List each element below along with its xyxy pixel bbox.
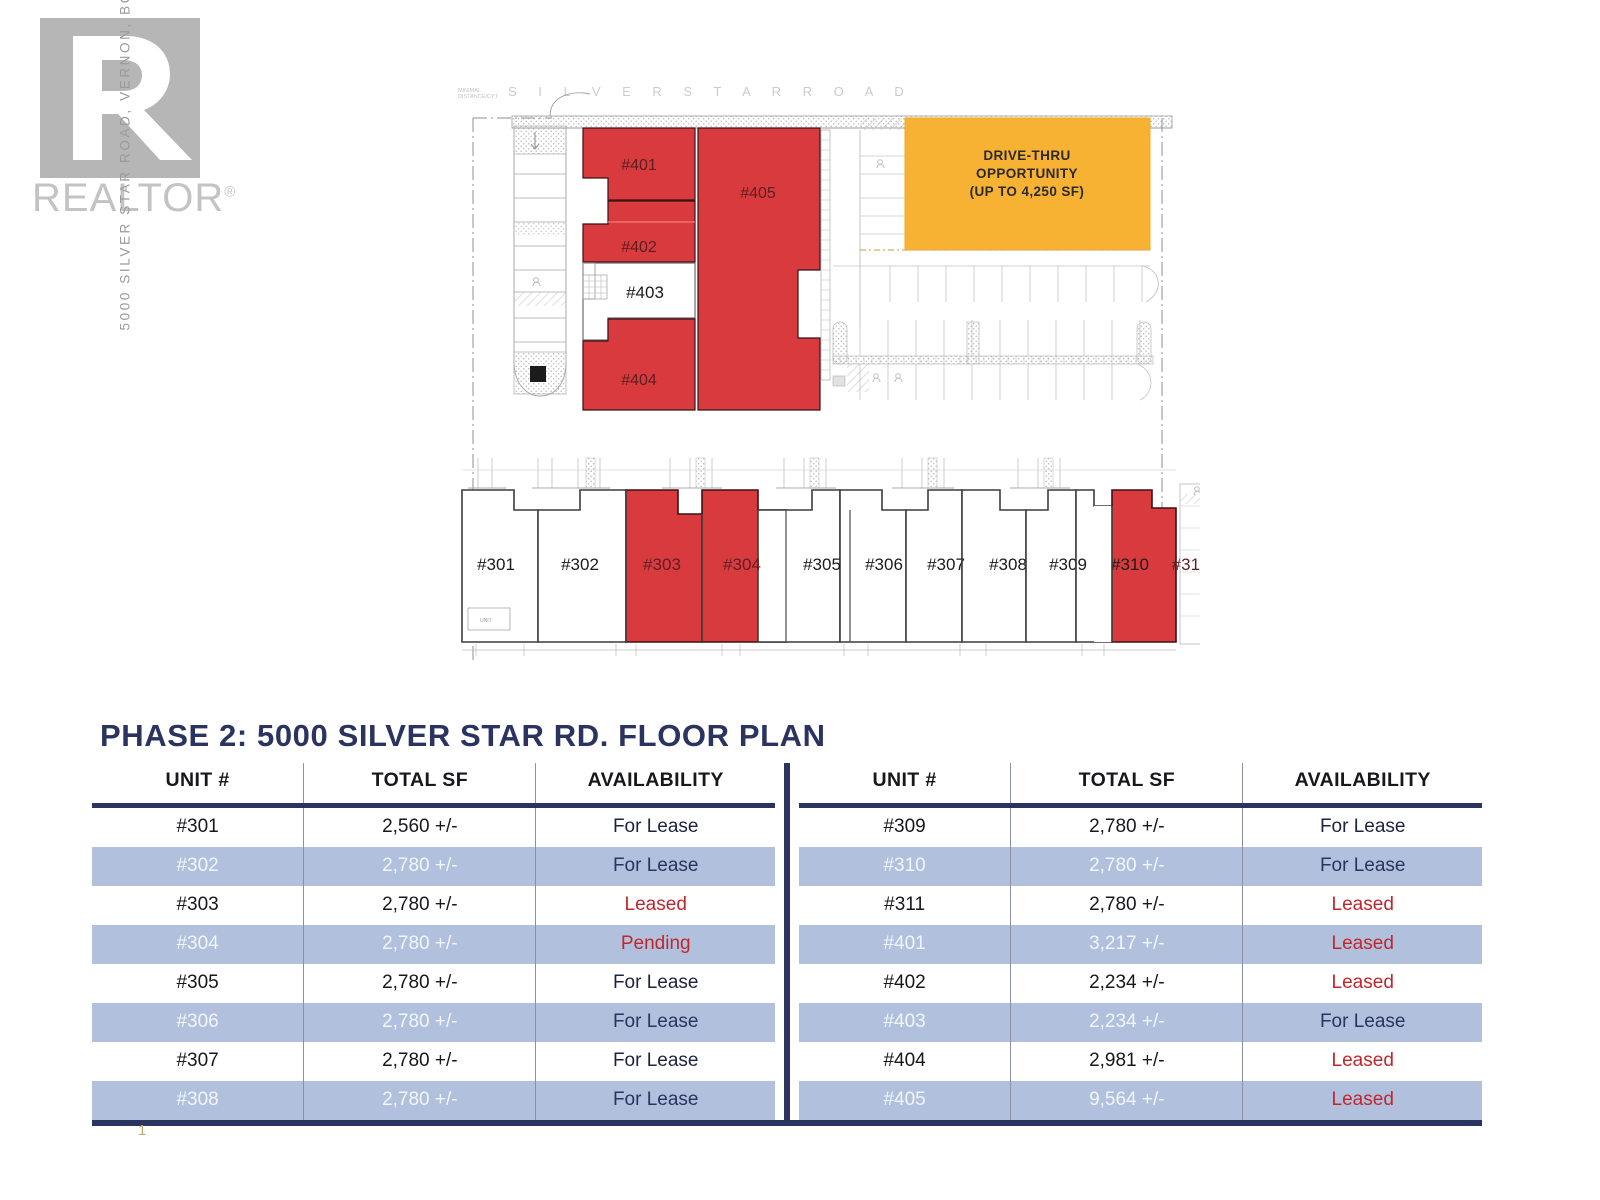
unit-302-label: #302	[561, 555, 599, 574]
cell-sf: 2,780 +/-	[1011, 847, 1243, 886]
drive-thru-line3: (UP TO 4,250 SF)	[970, 184, 1085, 199]
cell-unit: #302	[92, 847, 304, 886]
cell-availability: Leased	[1243, 964, 1482, 1003]
north-parking-row	[833, 250, 1158, 302]
center-parking-strip	[860, 118, 905, 328]
cell-availability: Leased	[1243, 886, 1482, 925]
cell-availability: Leased	[1243, 1042, 1482, 1081]
unit-tables: UNIT # TOTAL SF AVAILABILITY #301 2,560 …	[92, 763, 1482, 1120]
cell-sf: 2,234 +/-	[1011, 964, 1243, 1003]
realtor-wordmark-text: REALTOR	[32, 176, 224, 220]
cell-unit: #304	[92, 925, 304, 964]
floor-plan-drawing: S I L V E R S T A R R O A D MINIMAL DIST…	[440, 70, 1200, 670]
unit-401-label: #401	[621, 157, 657, 174]
table-row: #310 2,780 +/- For Lease	[799, 847, 1482, 886]
left-unit-table: UNIT # TOTAL SF AVAILABILITY #301 2,560 …	[92, 763, 775, 1120]
svg-text:S I L V E R S T A R R O A: S I L V E R S T A R R O A D	[508, 84, 913, 99]
cell-unit: #301	[92, 806, 304, 848]
cell-availability: Leased	[536, 886, 775, 925]
unit-305-label: #305	[803, 555, 841, 574]
left-table-body: #301 2,560 +/- For Lease #302 2,780 +/- …	[92, 806, 775, 1121]
cell-sf: 2,780 +/-	[304, 964, 536, 1003]
page-number: 1	[138, 1122, 146, 1139]
east-sidewalk	[821, 130, 830, 380]
unit-401-shape[interactable]: #401	[583, 128, 695, 200]
cell-availability: For Lease	[536, 847, 775, 886]
realtor-r-icon	[40, 18, 200, 178]
street-label-group: S I L V E R S T A R R O A D	[508, 84, 913, 99]
cell-availability: For Lease	[1243, 1003, 1482, 1042]
unit-402-shape[interactable]: #402	[583, 201, 695, 262]
svg-text:UNIT: UNIT	[480, 618, 492, 624]
unit-403-label: #403	[626, 283, 664, 302]
cell-sf: 2,780 +/-	[1011, 886, 1243, 925]
cell-sf: 2,780 +/-	[1011, 806, 1243, 848]
table-row: #301 2,560 +/- For Lease	[92, 806, 775, 848]
table-row: #404 2,981 +/- Leased	[799, 1042, 1482, 1081]
cell-availability: For Lease	[536, 964, 775, 1003]
cell-availability: Leased	[1243, 1081, 1482, 1120]
cell-unit: #308	[92, 1081, 304, 1120]
table-row: #308 2,780 +/- For Lease	[92, 1081, 775, 1120]
cell-sf: 2,234 +/-	[1011, 1003, 1243, 1042]
unit-310-label: #310	[1111, 555, 1149, 574]
cell-sf: 2,780 +/-	[304, 1042, 536, 1081]
cell-sf: 2,780 +/-	[304, 1081, 536, 1120]
unit-405-label: #405	[740, 185, 776, 202]
document-page: REALTOR® 5000 SILVER STAR ROAD, VERNON, …	[0, 0, 1600, 1200]
table-row: #403 2,234 +/- For Lease	[799, 1003, 1482, 1042]
cell-unit: #311	[799, 886, 1011, 925]
table-row: #304 2,780 +/- Pending	[92, 925, 775, 964]
cell-unit: #403	[799, 1003, 1011, 1042]
cell-availability: For Lease	[536, 806, 775, 848]
cell-availability: For Lease	[1243, 847, 1482, 886]
unit-402-label: #402	[621, 239, 657, 256]
cell-sf: 2,780 +/-	[304, 1003, 536, 1042]
cell-unit: #309	[799, 806, 1011, 848]
table-row: #302 2,780 +/- For Lease	[92, 847, 775, 886]
cell-availability: For Lease	[1243, 806, 1482, 848]
realtor-logo-box	[40, 18, 200, 178]
table-row: #401 3,217 +/- Leased	[799, 925, 1482, 964]
header-unit: UNIT #	[799, 763, 1011, 806]
cell-unit: #404	[799, 1042, 1011, 1081]
unit-304-label: #304	[723, 555, 761, 574]
cell-unit: #310	[799, 847, 1011, 886]
cell-availability: Leased	[1243, 925, 1482, 964]
table-header-row: UNIT # TOTAL SF AVAILABILITY	[92, 763, 775, 806]
drive-thru-line2: OPPORTUNITY	[976, 166, 1078, 181]
setback-note: MINIMAL DISTANCE/CYT	[458, 88, 499, 100]
unit-301-label: #301	[477, 555, 515, 574]
accessible-stall-icon-2	[877, 160, 884, 168]
realtor-watermark: REALTOR® 5000 SILVER STAR ROAD, VERNON, …	[28, 8, 228, 408]
cell-availability: For Lease	[536, 1042, 775, 1081]
floor-plan-table-block: PHASE 2: 5000 SILVER STAR RD. FLOOR PLAN…	[92, 718, 1482, 1126]
lower-building: #301 #302 #303 #304 #305 #306 #307 #308 …	[462, 458, 1200, 656]
table-row: #405 9,564 +/- Leased	[799, 1081, 1482, 1120]
cell-unit: #401	[799, 925, 1011, 964]
table-row: #303 2,780 +/- Leased	[92, 886, 775, 925]
unit-405-shape[interactable]: #405	[698, 128, 820, 410]
cell-unit: #303	[92, 886, 304, 925]
unit-309-label: #309	[1049, 555, 1087, 574]
cell-unit: #305	[92, 964, 304, 1003]
table-row: #305 2,780 +/- For Lease	[92, 964, 775, 1003]
south-parking-bays	[833, 320, 1153, 400]
table-row: #311 2,780 +/- Leased	[799, 886, 1482, 925]
cell-unit: #402	[799, 964, 1011, 1003]
svg-text:DISTANCE/CYT: DISTANCE/CYT	[458, 94, 499, 100]
unit-404-label: #404	[621, 372, 657, 389]
unit-307-label: #307	[927, 555, 965, 574]
right-unit-table-wrap: UNIT # TOTAL SF AVAILABILITY #309 2,780 …	[799, 763, 1482, 1120]
cell-sf: 2,780 +/-	[304, 847, 536, 886]
right-unit-table: UNIT # TOTAL SF AVAILABILITY #309 2,780 …	[799, 763, 1482, 1120]
cell-sf: 3,217 +/-	[1011, 925, 1243, 964]
unit-306-label: #306	[865, 555, 903, 574]
cell-unit: #405	[799, 1081, 1011, 1120]
unit-308-label: #308	[989, 555, 1027, 574]
cell-availability: For Lease	[536, 1081, 775, 1120]
drive-thru-line1: DRIVE-THRU	[983, 148, 1070, 163]
table-center-divider	[784, 763, 790, 1120]
registered-icon: ®	[224, 184, 236, 201]
page-title: PHASE 2: 5000 SILVER STAR RD. FLOOR PLAN	[100, 718, 1482, 754]
cell-unit: #307	[92, 1042, 304, 1081]
cell-availability: For Lease	[536, 1003, 775, 1042]
header-unit: UNIT #	[92, 763, 304, 806]
unit-311-label: #311	[1172, 555, 1200, 574]
right-table-body: #309 2,780 +/- For Lease #310 2,780 +/- …	[799, 806, 1482, 1121]
header-total-sf: TOTAL SF	[304, 763, 536, 806]
accessible-stall-icon	[533, 278, 540, 286]
header-total-sf: TOTAL SF	[1011, 763, 1243, 806]
unit-303-label: #303	[643, 555, 681, 574]
cell-availability: Pending	[536, 925, 775, 964]
header-availability: AVAILABILITY	[1243, 763, 1482, 806]
table-row: #402 2,234 +/- Leased	[799, 964, 1482, 1003]
accessible-stall-icon-4	[1194, 487, 1200, 495]
table-bottom-rule	[92, 1120, 1482, 1126]
west-parking-area	[512, 126, 566, 400]
cell-sf: 9,564 +/-	[1011, 1081, 1243, 1120]
table-row: #309 2,780 +/- For Lease	[799, 806, 1482, 848]
vertical-address-caption: 5000 SILVER STAR ROAD, VERNON, BC	[118, 11, 133, 331]
cell-sf: 2,981 +/-	[1011, 1042, 1243, 1081]
left-unit-table-wrap: UNIT # TOTAL SF AVAILABILITY #301 2,560 …	[92, 763, 775, 1120]
table-row: #306 2,780 +/- For Lease	[92, 1003, 775, 1042]
table-row: #307 2,780 +/- For Lease	[92, 1042, 775, 1081]
header-availability: AVAILABILITY	[536, 763, 775, 806]
realtor-wordmark: REALTOR®	[32, 176, 236, 221]
table-header-row: UNIT # TOTAL SF AVAILABILITY	[799, 763, 1482, 806]
accessible-stall-icon-3	[873, 374, 902, 382]
cell-sf: 2,780 +/-	[304, 886, 536, 925]
cell-sf: 2,560 +/-	[304, 806, 536, 848]
cell-unit: #306	[92, 1003, 304, 1042]
drive-thru-opportunity[interactable]: DRIVE-THRU OPPORTUNITY (UP TO 4,250 SF)	[905, 118, 1150, 250]
cell-sf: 2,780 +/-	[304, 925, 536, 964]
